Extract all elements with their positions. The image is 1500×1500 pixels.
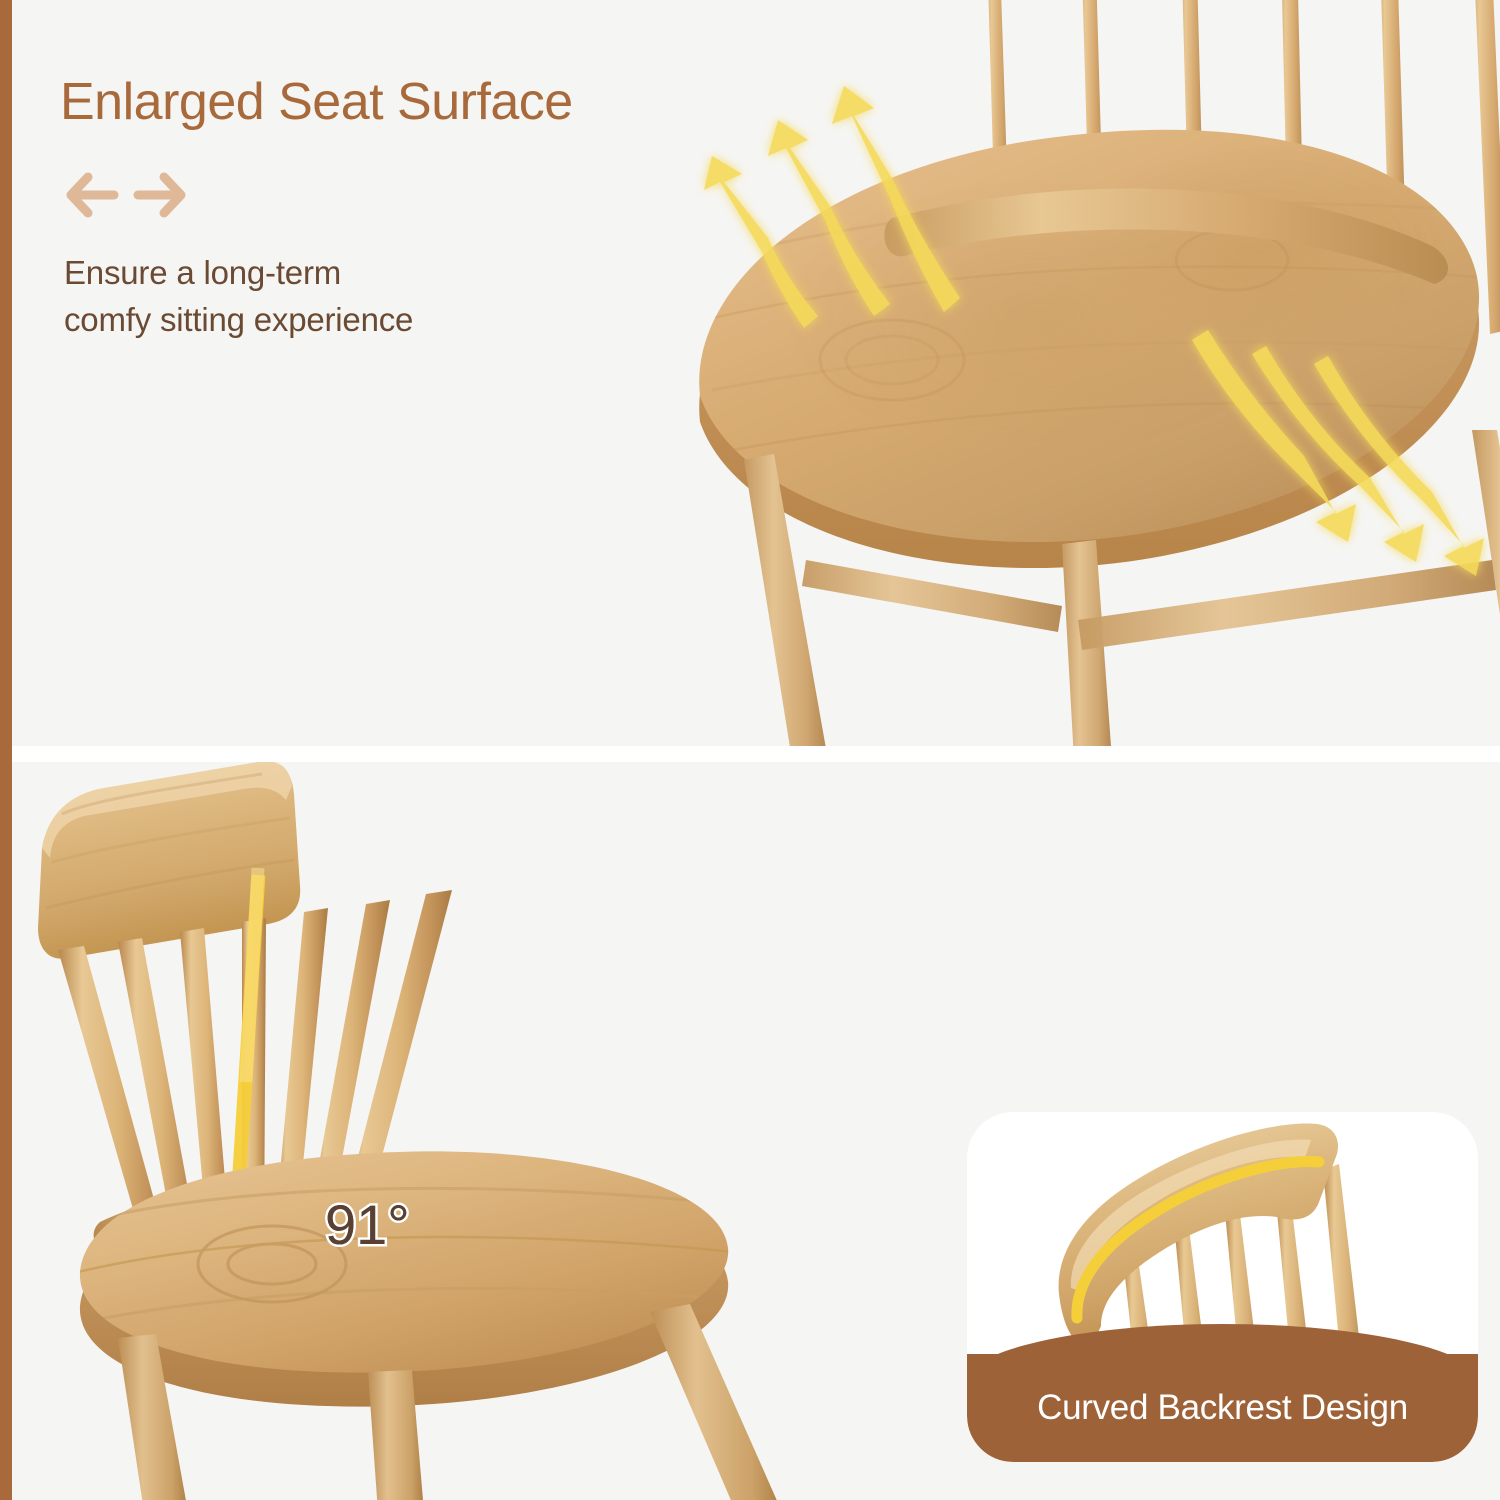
infographic-root: Enlarged Seat Surface Ensure a long-term… [0, 0, 1500, 1500]
left-right-arrows-icon [62, 163, 190, 227]
left-accent-rail [0, 0, 12, 1500]
curved-backrest-label: Curved Backrest Design [1037, 1388, 1408, 1428]
section-enlarged-seat: Enlarged Seat Surface Ensure a long-term… [12, 0, 1500, 746]
page-title-enlarged-seat: Enlarged Seat Surface [60, 72, 573, 132]
seat-surface-image [592, 0, 1500, 746]
section-description-enlarged-seat: Ensure a long-termcomfy sitting experien… [64, 250, 664, 344]
angle-label: 91° [325, 1192, 410, 1257]
curved-backrest-card[interactable]: Curved Backrest Design [967, 1112, 1478, 1462]
spindle-backrest-image [22, 762, 822, 1500]
section-divider [12, 746, 1500, 762]
curved-backrest-band: Curved Backrest Design [967, 1354, 1478, 1462]
